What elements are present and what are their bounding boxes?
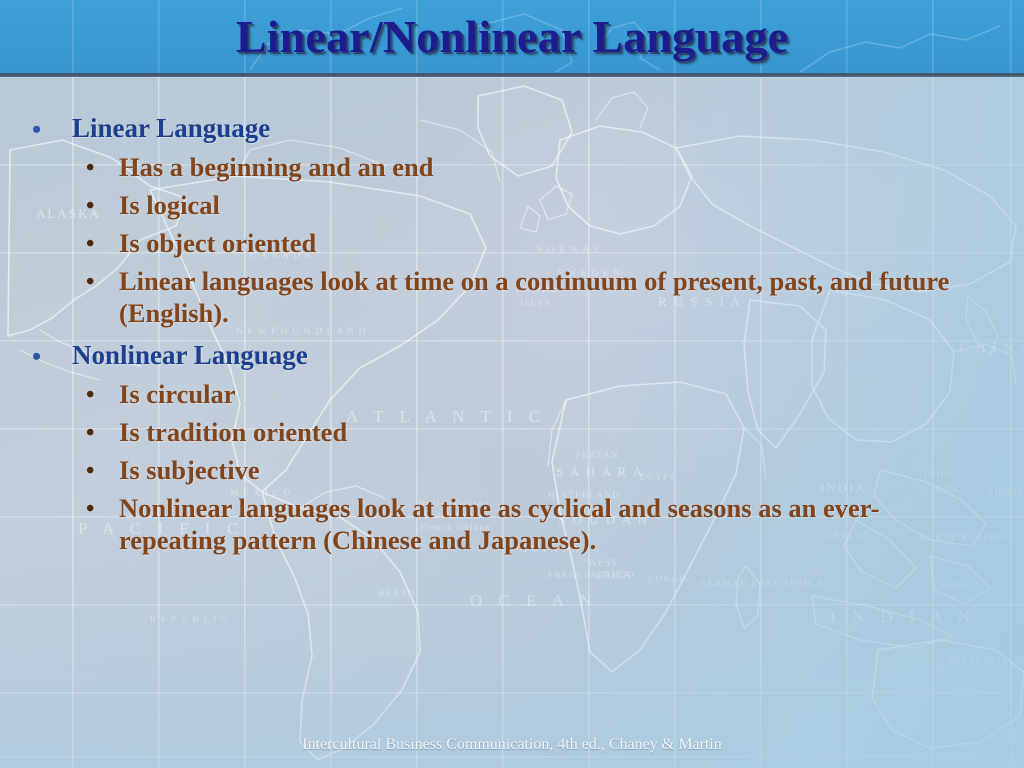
slide-title: Linear/Nonlinear Language [0, 0, 1024, 73]
bullet-text: Linear Language [72, 112, 1024, 144]
bullet-level1-linear-language: • Linear Language [0, 112, 1024, 148]
bullet-dot-icon: • [86, 228, 119, 260]
bullet-text: Nonlinear languages look at time as cycl… [119, 493, 964, 557]
bullet-dot-icon: • [32, 112, 72, 148]
bullet-dot-icon: • [86, 152, 119, 184]
bullet-level2-item: • Is object oriented [0, 228, 1024, 260]
bullet-text: Is circular [119, 379, 964, 411]
title-divider-rule [0, 73, 1024, 77]
bullet-dot-icon: • [86, 417, 119, 449]
slide-body: • Linear Language • Has a beginning and … [0, 112, 1024, 563]
bullet-dot-icon: • [86, 455, 119, 487]
bullet-text: Is logical [119, 190, 964, 222]
bullet-dot-icon: • [86, 493, 119, 525]
bullet-dot-icon: • [86, 379, 119, 411]
title-banner: Linear/Nonlinear Language [0, 0, 1024, 73]
slide: ALASKA BRITISH ISLES R U S S I A C H I N… [0, 0, 1024, 768]
bullet-level2-item: • Is tradition oriented [0, 417, 1024, 449]
bullet-text: Is subjective [119, 455, 964, 487]
bullet-level2-item: • Nonlinear languages look at time as cy… [0, 493, 1024, 557]
bullet-text: Is object oriented [119, 228, 964, 260]
bullet-text: Has a beginning and an end [119, 152, 964, 184]
bullet-level2-item: • Linear languages look at time on a con… [0, 266, 1024, 330]
bullet-level2-item: • Is subjective [0, 455, 1024, 487]
bullet-level2-item: • Is logical [0, 190, 1024, 222]
bullet-level2-item: • Is circular [0, 379, 1024, 411]
bullet-level2-item: • Has a beginning and an end [0, 152, 1024, 184]
bullet-dot-icon: • [32, 339, 72, 375]
bullet-dot-icon: • [86, 190, 119, 222]
bullet-text: Nonlinear Language [72, 339, 1024, 371]
bullet-text: Is tradition oriented [119, 417, 964, 449]
bullet-dot-icon: • [86, 266, 119, 298]
bullet-level1-nonlinear-language: • Nonlinear Language [0, 339, 1024, 375]
slide-footer-citation: Intercultural Business Communication, 4t… [0, 736, 1024, 754]
bullet-text: Linear languages look at time on a conti… [119, 266, 964, 330]
